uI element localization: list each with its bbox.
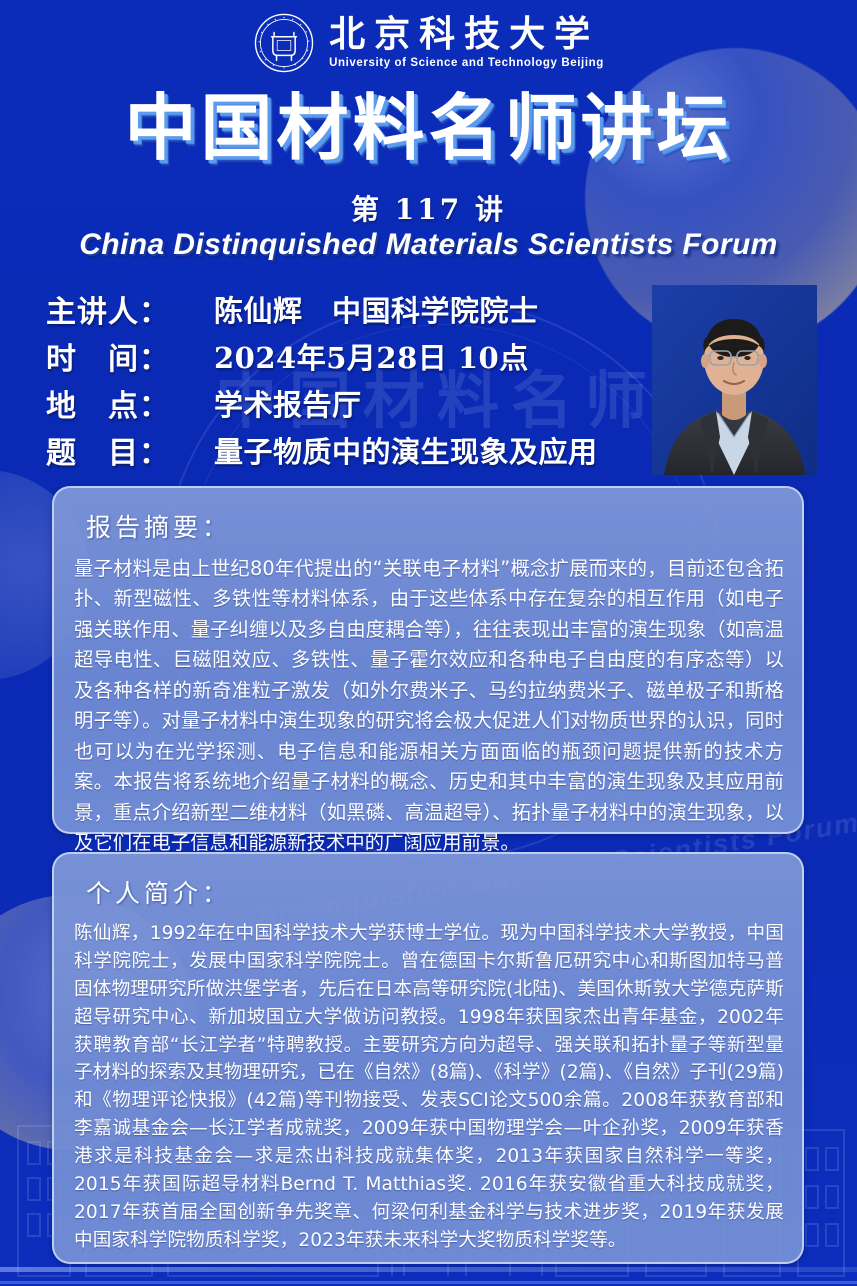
bio-card: 个人简介： 陈仙辉，1992年在中国科学技术大学获博士学位。现为中国科学技术大学… <box>52 852 804 1264</box>
university-name-en: University of Science and Technology Bei… <box>329 58 604 70</box>
speaker-portrait <box>652 285 817 475</box>
university-logo-lockup: 北京科技大学 University of Science and Technol… <box>0 12 857 74</box>
info-label-time: 时 间： <box>46 334 214 378</box>
info-row-time: 时 间： 2024年5月28日 10点 <box>46 333 666 378</box>
event-info-block: 主讲人： 陈仙辉 中国科学院院士 时 间： 2024年5月28日 10点 地 点… <box>46 286 666 472</box>
info-value-topic: 量子物质中的演生现象及应用 <box>214 429 598 471</box>
info-value-location: 学术报告厅 <box>214 382 362 424</box>
info-row-topic: 题 目： 量子物质中的演生现象及应用 <box>46 427 666 472</box>
info-row-speaker: 主讲人： 陈仙辉 中国科学院院士 <box>46 286 666 331</box>
bio-body: 陈仙辉，1992年在中国科学技术大学获博士学位。现为中国科学技术大学教授，中国科… <box>74 920 784 1255</box>
info-label-location: 地 点： <box>46 381 214 425</box>
page-title: 中国材料名师讲坛 <box>0 92 857 164</box>
abstract-title: 报告摘要： <box>86 508 784 544</box>
bottom-accent-strip-secondary <box>0 1281 857 1284</box>
university-name-cn: 北京科技大学 <box>329 16 604 52</box>
subtitle-english: China Distinquished Materials Scientists… <box>0 228 857 262</box>
issue-number: 第 117 讲 <box>0 188 857 228</box>
info-value-time: 2024年5月28日 10点 <box>214 335 529 377</box>
info-row-location: 地 点： 学术报告厅 <box>46 380 666 425</box>
abstract-body: 量子材料是由上世纪80年代提出的“关联电子材料”概念扩展而来的，目前还包含拓扑、… <box>74 554 784 859</box>
abstract-card: 报告摘要： 量子材料是由上世纪80年代提出的“关联电子材料”概念扩展而来的，目前… <box>52 486 804 834</box>
poster-root: 中国材料名师讲坛 China Distinquished Materials S… <box>0 0 857 1286</box>
bottom-accent-strip <box>0 1267 857 1272</box>
ustb-seal-icon <box>253 12 315 74</box>
info-value-speaker: 陈仙辉 中国科学院院士 <box>214 288 539 330</box>
bio-title: 个人简介： <box>86 874 784 910</box>
info-label-topic: 题 目： <box>46 428 214 472</box>
info-label-speaker: 主讲人： <box>46 287 214 331</box>
